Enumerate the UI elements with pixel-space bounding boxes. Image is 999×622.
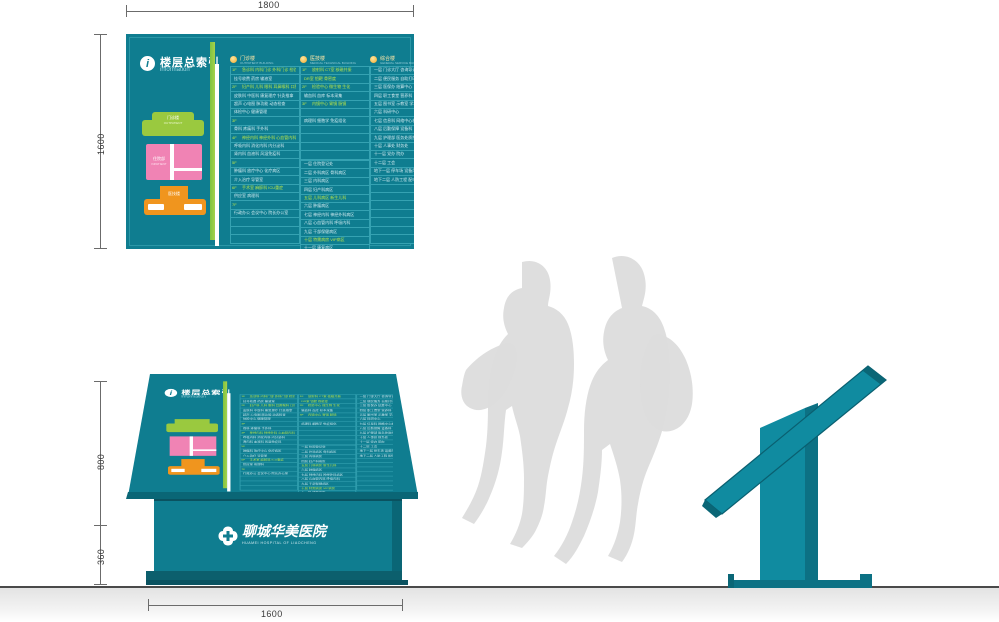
directory-row-text: 四层 妇产科病区	[304, 187, 366, 193]
directory-row-text: 三层 内科病区	[301, 455, 353, 458]
directory-row	[370, 234, 414, 244]
directory-row	[240, 485, 298, 490]
directory-row-text: 行政办公 会议中心 院长办公室	[234, 210, 296, 216]
brand-name-cn: 聊城华美医院	[242, 525, 326, 540]
map-slot-left	[148, 204, 164, 210]
directory-row-text: 九层 护理部 医务处质控办	[360, 431, 393, 434]
directory-row-floor-tag: 2F	[232, 84, 241, 89]
pedestal-side	[392, 499, 402, 571]
directory-row-text: 体检中心 健康管理	[243, 418, 295, 421]
white-accent-bar	[215, 64, 219, 246]
directory-row	[300, 150, 370, 160]
directory-row-text: 六层 肿瘤病区	[304, 203, 366, 209]
lectern-title-en: information	[181, 395, 206, 398]
hospital-cross-logo-icon	[218, 526, 238, 546]
lectern-map-slot-l	[171, 469, 184, 472]
pedestal-top-line	[154, 499, 402, 501]
directory-row-text: 皮肤科 中医科 康复理疗 针灸推拿	[234, 93, 296, 99]
directory-row-floor-tag: 2F	[241, 404, 248, 407]
directory-row-text: 七层 信息科 网络中心机房	[374, 118, 414, 124]
directory-row-text: 输血科 血库 标本采集	[301, 409, 353, 412]
directory-row-text: 二层 便民服务 自助打印	[360, 400, 393, 403]
sign-panel-front-elevation: i 楼层总索引 information 门诊楼 OUTPATIENT 住院部 I…	[126, 34, 414, 249]
directory-row-text: 十一层 康复病区	[304, 245, 366, 249]
dim-base-tick-bottom	[94, 584, 107, 585]
directory-row-text: 十层 人事处 财务处	[374, 143, 414, 149]
directory-row-text: DR室 钼靶 骨密度	[304, 76, 366, 82]
dim-label-1800-top: 1800	[258, 0, 280, 10]
brand-name-en: HUAMEI HOSPITAL OF LIAOCHENG	[242, 540, 326, 546]
map-road-horizontal	[174, 168, 202, 171]
column-3-header-en: GENERAL SERVICE BUILDING	[380, 61, 414, 65]
column-1-header-en: OUTPATIENT BUILDING	[240, 61, 274, 65]
directory-row-text: 放射科 CT室 核磁共振	[312, 67, 366, 73]
directory-row-text: 肿瘤科 放疗中心 化疗病区	[243, 449, 295, 452]
dim-stand-tick-top	[94, 381, 107, 382]
dim-label-1600-panel: 1600	[96, 133, 106, 155]
dim-top-tick-right	[413, 5, 414, 17]
map-label-north-en: OUTPATIENT	[152, 121, 194, 125]
directory-row-floor-tag: 3F	[241, 422, 248, 425]
directory-row-text: 肿瘤科 放疗中心 化疗病区	[234, 168, 296, 174]
directory-row-text: DR室 钼靶 骨密度	[301, 400, 353, 403]
map-slot-right	[184, 204, 202, 210]
side-base-right	[860, 574, 872, 588]
directory-row-text: 呼吸内科 消化内科 内分泌科	[243, 436, 295, 439]
directory-row-text: 一层 门诊大厅 咨询导诊	[360, 395, 393, 398]
directory-row-floor-tag: 5F	[241, 445, 248, 448]
directory-row-text: 五层 图书室 示教室 学术厅	[374, 101, 414, 107]
directory-row-text: 地下二层 人防工程 配电室	[374, 177, 414, 183]
directory-row-text: 九层 干部保健病区	[301, 482, 353, 485]
side-base-plate	[730, 580, 870, 588]
pedestal-foot	[146, 571, 402, 580]
information-icon: i	[140, 56, 155, 71]
directory-row-text: 行政办公 会议中心 院长办公室	[243, 472, 295, 475]
directory-row-floor-tag: 3F	[300, 413, 307, 416]
pedestal-foot-shadow	[146, 580, 408, 585]
directory-row-text: 检验中心 微生物 生化	[312, 84, 366, 90]
directory-row-floor-tag: 5F	[232, 160, 241, 165]
directory-row-text: 十一层 党办 院办	[374, 151, 414, 157]
side-elevation-view	[700, 358, 900, 588]
directory-row-text: 九层 护理部 医务处质控办	[374, 135, 414, 141]
directory-row-text: 十层 特需病房 VIP病区	[304, 237, 366, 243]
directory-row-text: 八层 后勤保障 设备科	[360, 427, 393, 430]
directory-row-text: 病理科 细胞学 免疫组化	[301, 422, 353, 425]
lectern-map-road-v	[190, 436, 193, 455]
directory-row-text: 三层 医保办 结算中心	[374, 84, 414, 90]
dim-base-tick-top	[94, 525, 107, 526]
directory-row-text: 肾内科 血液科 风湿免疫科	[243, 440, 295, 443]
lectern-panel-artwork: i 楼层总索引 information 1F急诊科 内科门诊 外科门诊 检验科挂…	[153, 377, 393, 493]
directory-row-text: 五层 儿科病区 新生儿科	[304, 195, 366, 201]
directory-row-floor-tag: 6F	[241, 459, 248, 462]
lectern-map-north	[166, 423, 218, 432]
directory-row-text: 呼吸内科 消化内科 内分泌科	[234, 143, 296, 149]
directory-row-text: 二层 便民服务 自助打印	[374, 76, 414, 82]
directory-row-text: 体检中心 健康管理	[234, 109, 296, 115]
directory-row-floor-tag: 7F	[232, 202, 241, 207]
directory-row-text: 放射科 CT室 核磁共振	[308, 395, 353, 398]
column-2-header-en: MEDICAL TECHNICAL BUILDING	[310, 61, 356, 65]
directory-row-text: 超声 心电图 肺功能 动态检查	[243, 413, 295, 416]
directory-row-text: 骨科 疼痛科 手外科	[234, 126, 296, 132]
directory-row-text: 十一层 党办 院办	[360, 440, 393, 443]
directory-row-text: 急诊科 内科门诊 外科门诊 检验科	[250, 395, 295, 398]
directory-row-text: 二层 外科病区 骨科病区	[304, 170, 366, 176]
directory-row-floor-tag: 7F	[241, 468, 248, 471]
directory-row-text: 九层 干部保健病区	[304, 229, 366, 235]
directory-row-text: 十层 特需病房 VIP病区	[301, 487, 353, 490]
directory-row-text: 挂号收费 药房 输液室	[243, 400, 295, 403]
directory-row-text: 八层 心血管内科 呼吸内科	[301, 478, 353, 481]
lectern-perspective-view: i 楼层总索引 information 1F急诊科 内科门诊 外科门诊 检验科挂…	[126, 360, 426, 590]
directory-row-text: 骨科 疼痛科 手外科	[243, 427, 295, 430]
directory-row-text: 挂号收费 药房 输液室	[234, 76, 296, 82]
directory-row-text: 手术室 麻醉科 ICU重症	[250, 459, 295, 462]
map-label-south-cn: 医技楼	[160, 191, 188, 197]
directory-row-text: 地下二层 人防工程 配电室	[360, 454, 393, 457]
dim-bottom-tick-left	[148, 599, 149, 611]
directory-row-text: 一层 住院登记处	[304, 161, 366, 167]
directory-row-floor-tag: 1F	[300, 395, 307, 398]
directory-row-text: 地下一层 停车场 设备用房	[360, 449, 393, 452]
directory-row-text: 七层 信息科 网络中心机房	[360, 422, 393, 425]
directory-row-text: 皮肤科 中医科 康复理疗 针灸推拿	[243, 409, 295, 412]
column-2-bullet-icon	[300, 56, 307, 63]
directory-row-text: 神经内科 神经外科 心血管内科	[242, 135, 296, 141]
directory-row	[230, 234, 300, 244]
directory-row-text: 三层 医保办 结算中心	[360, 404, 393, 407]
directory-row-text: 一层 门诊大厅 咨询导诊	[374, 67, 414, 73]
directory-row-floor-tag: 3F	[302, 101, 311, 106]
directory-row-floor-tag: 2F	[300, 404, 307, 407]
directory-row-text: 七层 神经内科 神经外科病区	[304, 212, 366, 218]
lectern-front-edge	[126, 492, 418, 499]
directory-row-text: 六层 科研中心	[374, 109, 414, 115]
directory-row-text: 手术室 麻醉科 ICU重症	[242, 185, 296, 191]
directory-row-text: 地下一层 停车场 设备用房	[374, 168, 414, 174]
directory-row-floor-tag: 1F	[241, 395, 248, 398]
lectern-artwork-scaled: i 楼层总索引 information 1F急诊科 内科门诊 外科门诊 检验科挂…	[153, 377, 393, 493]
dim-label-360: 360	[96, 549, 106, 565]
map-label-center-en: INPATIENT	[146, 162, 172, 166]
directory-row-floor-tag: 6F	[232, 185, 241, 190]
directory-row-text: 检验中心 微生物 生化	[308, 404, 353, 407]
human-scale-figures	[452, 252, 712, 588]
directory-row-text: 五层 儿科病区 新生儿科	[301, 464, 353, 467]
directory-row-text: 供应室 病理科	[234, 193, 296, 199]
dim-label-800: 800	[96, 454, 106, 470]
directory-row-text: 神经内科 神经外科 心血管内科	[250, 431, 295, 434]
directory-row-text: 内镜中心 胃镜 肠镜	[312, 101, 366, 107]
dim-top-line	[126, 11, 414, 12]
directory-row-text: 四层 职工食堂 营养科	[374, 93, 414, 99]
directory-row-text: 四层 职工食堂 营养科	[360, 409, 393, 412]
directory-row	[356, 485, 393, 490]
directory-row-floor-tag: 4F	[241, 431, 248, 434]
directory-row-floor-tag: 1F	[302, 67, 311, 72]
lectern-map-south-top	[181, 459, 204, 467]
directory-row-text: 介入治疗 导管室	[243, 454, 295, 457]
directory-row-floor-tag: 3F	[232, 118, 241, 123]
directory-row-text: 七层 神经内科 神经外科病区	[301, 473, 353, 476]
directory-row-text: 超声 心电图 肺功能 动态检查	[234, 101, 296, 107]
directory-row-text: 输血科 血库 标本采集	[304, 93, 366, 99]
directory-row-text: 妇产科 儿科 眼科 耳鼻喉科 口腔科	[250, 404, 295, 407]
directory-row-text: 三层 内科病区	[304, 178, 366, 184]
directory-row-text: 五层 图书室 示教室 学术厅	[360, 413, 393, 416]
directory-row-text: 病理科 细胞学 免疫组化	[304, 118, 366, 124]
lectern-white-bar	[227, 393, 230, 491]
panel-title-en: information	[160, 67, 190, 73]
directory-row-text: 十层 人事处 财务处	[360, 436, 393, 439]
directory-row-floor-tag: 4F	[232, 135, 241, 140]
directory-row-text: 二层 外科病区 骨科病区	[301, 450, 353, 453]
side-base-left	[728, 574, 734, 588]
directory-row-text: 肾内科 血液科 风湿免疫科	[234, 151, 296, 157]
directory-row-text: 十二层 工会	[374, 160, 414, 166]
dim-left-tick-top	[94, 34, 107, 35]
directory-row-floor-tag: 1F	[232, 67, 241, 72]
lectern-map-road-h	[193, 449, 216, 451]
lectern-information-icon: i	[165, 389, 177, 397]
directory-row-text: 六层 科研中心	[360, 418, 393, 421]
drawing-canvas: 1800 1600 i 楼层总索引 information 门诊楼 OUTPAT…	[0, 0, 999, 622]
dim-top-tick-left	[126, 5, 127, 17]
directory-row-text: 十二层 工会	[360, 445, 393, 448]
directory-row-text: 八层 心血管内科 呼吸内科	[304, 220, 366, 226]
directory-row-text: 六层 肿瘤病区	[301, 468, 353, 471]
dim-left-tick-bottom	[94, 248, 107, 249]
directory-row-text: 急诊科 内科门诊 外科门诊 检验科	[242, 67, 296, 73]
directory-row-floor-tag: 2F	[302, 84, 311, 89]
directory-row-text: 供应室 病理科	[243, 463, 295, 466]
directory-row-text: 八层 后勤保障 设备科	[374, 126, 414, 132]
brand-lockup: 聊城华美医院 HUAMEI HOSPITAL OF LIAOCHENG	[218, 525, 326, 546]
directory-row-text: 介入治疗 导管室	[234, 177, 296, 183]
directory-row-text: 内镜中心 胃镜 肠镜	[308, 413, 353, 416]
dim-bottom-tick-right	[402, 599, 403, 611]
dim-bottom-line	[148, 605, 403, 606]
lectern-map-north-top	[175, 419, 210, 424]
lectern-map-slot-r	[201, 469, 216, 472]
directory-row-text: 四层 妇产科病区	[301, 459, 353, 462]
column-3-bullet-icon	[370, 56, 377, 63]
directory-row-text: 妇产科 儿科 眼科 耳鼻喉科 口腔科	[242, 84, 296, 90]
column-1-bullet-icon	[230, 56, 237, 63]
dim-label-1600-base: 1600	[261, 609, 283, 619]
directory-row-text: 一层 住院登记处	[301, 446, 353, 449]
